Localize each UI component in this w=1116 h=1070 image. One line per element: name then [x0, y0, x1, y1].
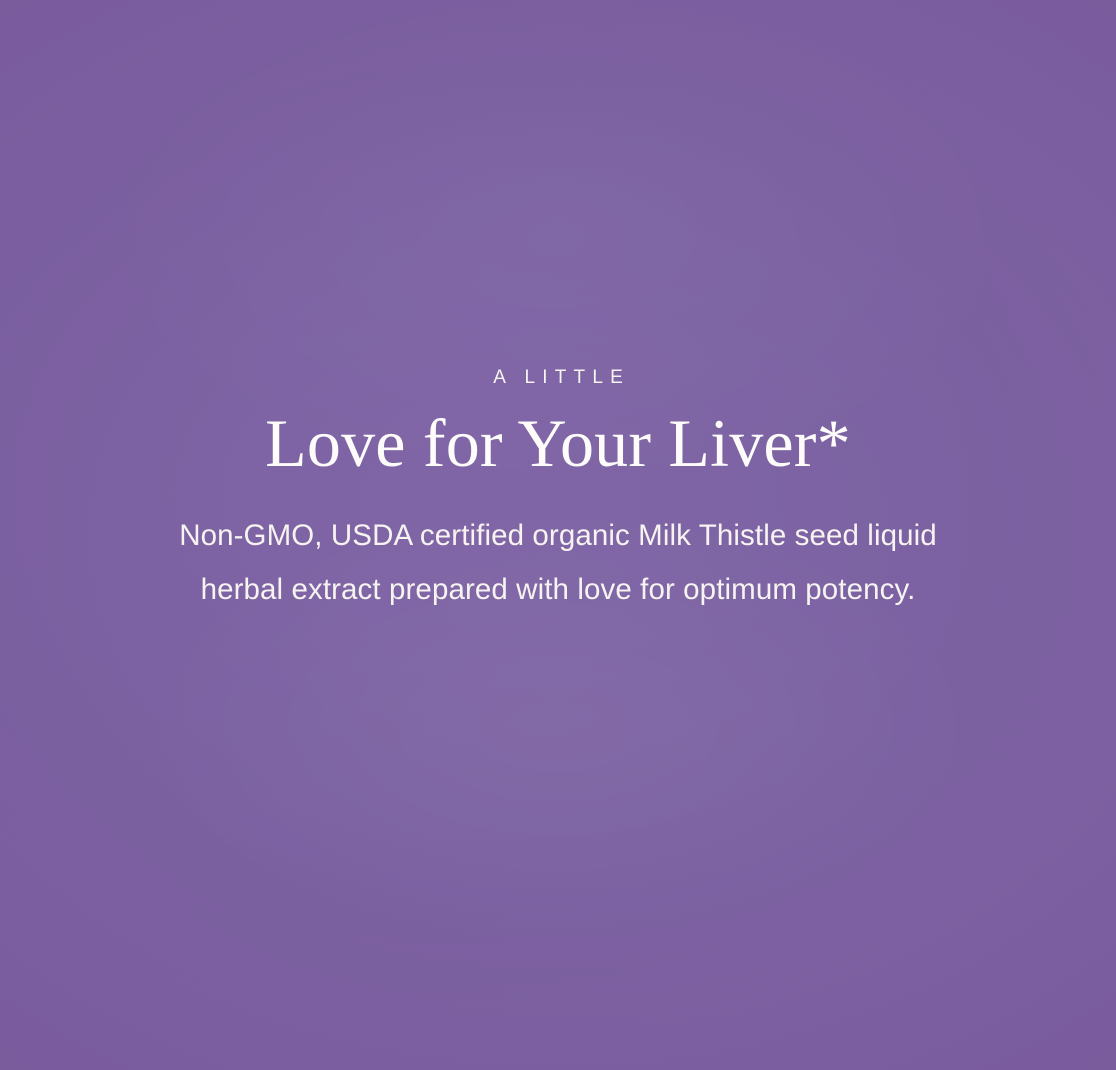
hero-eyebrow: A LITTLE [56, 366, 1060, 390]
hero-content: A LITTLE Love for Your Liver* Non-GMO, U… [0, 366, 1116, 617]
hero-subcopy: Non-GMO, USDA certified organic Milk Thi… [93, 509, 1023, 617]
hero-banner: A LITTLE Love for Your Liver* Non-GMO, U… [0, 0, 1116, 1070]
hero-headline: Love for Your Liver* [56, 408, 1060, 479]
hero-subcopy-line-2: herbal extract prepared with love for op… [93, 563, 1023, 617]
hero-subcopy-line-1: Non-GMO, USDA certified organic Milk Thi… [93, 509, 1023, 563]
